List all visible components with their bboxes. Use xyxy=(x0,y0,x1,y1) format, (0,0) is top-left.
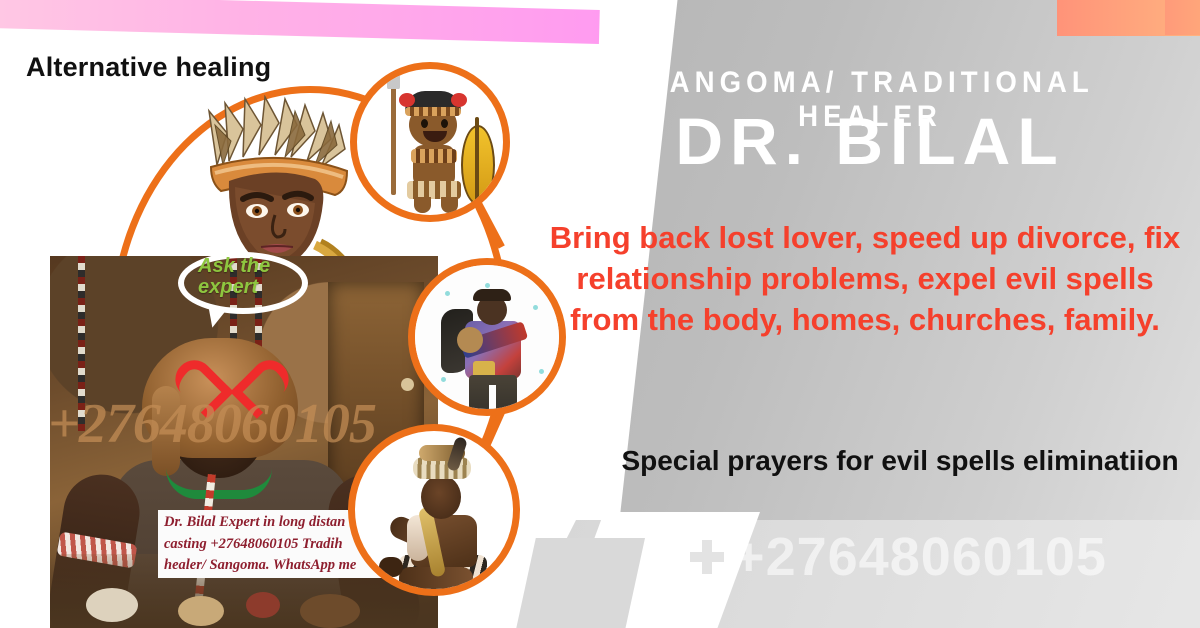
warrior-leg xyxy=(441,197,458,213)
phone-watermark: +27648060105 xyxy=(640,526,1200,588)
page-title: Alternative healing xyxy=(26,52,271,83)
speech-bubble-text: Ask the expert xyxy=(198,256,306,298)
warrior-eye xyxy=(441,119,448,128)
bottom-grey-wedge xyxy=(515,538,645,628)
healer-name: DR. BILAL xyxy=(560,108,1180,174)
healer-crown xyxy=(413,457,471,479)
sangoma-hat xyxy=(473,289,511,301)
hand-fan xyxy=(457,327,483,353)
healer-hand xyxy=(379,557,403,577)
top-pink-bar xyxy=(0,0,600,44)
top-orange-bar-end xyxy=(1165,0,1200,35)
warrior-headband xyxy=(405,107,461,116)
circle-image-zulu-warrior xyxy=(350,62,510,222)
spear-icon xyxy=(391,83,396,195)
shield-icon xyxy=(461,125,495,205)
healer-head xyxy=(421,475,461,519)
special-offer-text: Special prayers for evil spells eliminat… xyxy=(600,442,1200,480)
warrior-eye xyxy=(421,119,428,128)
warrior-leg xyxy=(414,197,431,213)
services-text: Bring back lost lover, speed up divorce,… xyxy=(540,218,1190,341)
green-necklace xyxy=(166,468,272,499)
sangoma-trousers xyxy=(469,375,517,416)
poster-canvas: Alternative healing xyxy=(0,0,1200,628)
circle-image-kneeling-healer xyxy=(348,424,520,596)
